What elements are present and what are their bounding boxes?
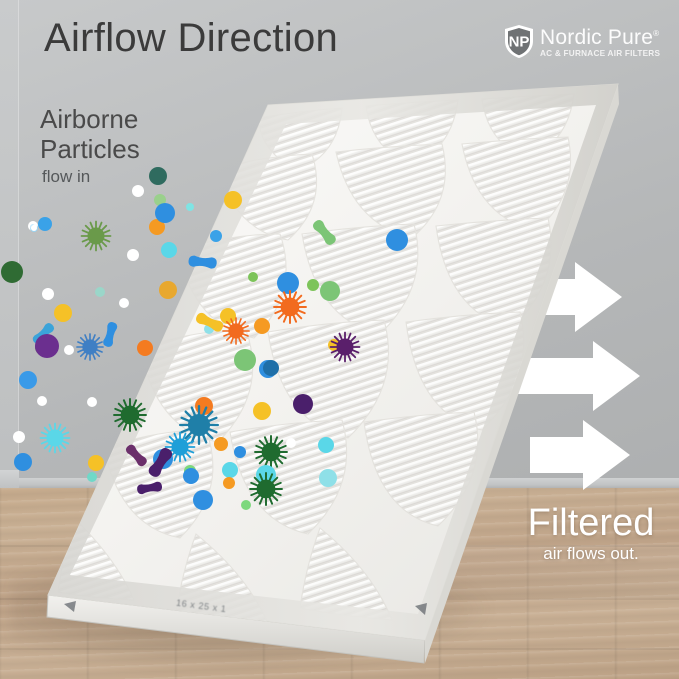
particle-dot xyxy=(234,446,246,458)
particle-dot xyxy=(223,477,235,489)
particle-dot xyxy=(293,394,313,414)
particle-dot xyxy=(214,437,228,451)
particle-dot xyxy=(254,318,270,334)
shield-icon: NP xyxy=(503,24,535,59)
particle-spiky xyxy=(223,318,249,344)
particle-dot xyxy=(193,490,213,510)
page-title: Airflow Direction xyxy=(44,16,338,61)
particle-spiky xyxy=(114,399,146,431)
particle-dot xyxy=(286,438,296,448)
particle-dot xyxy=(253,402,271,420)
particle-dot xyxy=(127,249,139,261)
particle-dot xyxy=(277,272,299,294)
inlet-label-line1: Airborne xyxy=(40,104,140,134)
particle-dot xyxy=(263,360,279,376)
particles-unfiltered-side xyxy=(1,167,196,482)
particle-rod xyxy=(311,218,338,247)
particle-dot xyxy=(87,397,97,407)
particle-dot xyxy=(137,340,153,356)
inlet-label-line3: flow in xyxy=(42,167,140,187)
particle-dot xyxy=(241,500,251,510)
outlet-label-group: Filtered air flows out. xyxy=(516,503,666,564)
brand-name: Nordic Pure® xyxy=(540,22,665,49)
particle-dot xyxy=(210,230,222,242)
particle-spiky xyxy=(77,334,103,360)
particle-spiky xyxy=(180,406,218,444)
inlet-label-group: Airborne Particles flow in xyxy=(40,104,140,187)
outlet-label-line1: Filtered xyxy=(516,503,666,543)
particle-dot xyxy=(37,396,47,406)
particle-dot xyxy=(248,272,258,282)
outlet-label-line2: air flows out. xyxy=(516,544,666,564)
particle-rod xyxy=(188,255,217,269)
particle-dot xyxy=(95,287,105,297)
particle-dot xyxy=(42,288,54,300)
particle-dot xyxy=(19,371,37,389)
particle-rod xyxy=(136,481,162,495)
particle-dot xyxy=(14,453,32,471)
particle-dot xyxy=(88,455,104,471)
particle-dot xyxy=(54,304,72,322)
airborne-particles-group xyxy=(0,0,679,679)
particle-dot xyxy=(186,203,194,211)
particle-dot xyxy=(1,261,23,283)
inlet-label-line2: Particles xyxy=(40,134,140,164)
particle-dot xyxy=(307,279,319,291)
brand-tagline: AC & FURNACE AIR FILTERS xyxy=(540,49,665,58)
particle-dot xyxy=(31,225,37,231)
particle-spiky xyxy=(41,424,70,453)
particle-dot xyxy=(35,334,59,358)
particle-spiky xyxy=(331,333,360,362)
particle-dot xyxy=(13,431,25,443)
particles-layer xyxy=(0,0,679,679)
svg-text:NP: NP xyxy=(509,34,530,51)
brand-logo-text: Nordic Pure® AC & FURNACE AIR FILTERS xyxy=(540,22,665,58)
particle-dot xyxy=(319,469,337,487)
particles-on-filter xyxy=(136,191,408,510)
particle-dot xyxy=(183,468,199,484)
particle-dot xyxy=(234,349,256,371)
particle-dot xyxy=(222,462,238,478)
particle-spiky xyxy=(274,291,306,323)
particle-dot xyxy=(38,217,52,231)
product-illustration: 16 x 25 x 1 Airflow Direction Airborne P… xyxy=(0,0,679,679)
particle-dot xyxy=(224,191,242,209)
particle-dot xyxy=(386,229,408,251)
particle-dot xyxy=(87,472,97,482)
particle-dot xyxy=(159,281,177,299)
particle-dot xyxy=(149,167,167,185)
particle-dot xyxy=(161,242,177,258)
particle-dot xyxy=(64,345,74,355)
registered-mark: ® xyxy=(653,29,659,38)
particle-dot xyxy=(119,298,129,308)
particle-spiky xyxy=(82,222,111,251)
particle-dot xyxy=(220,308,236,324)
particle-rod xyxy=(124,443,148,468)
brand-name-text: Nordic Pure xyxy=(540,26,653,49)
particle-spiky xyxy=(255,436,287,468)
particle-dot xyxy=(155,203,175,223)
brand-logo: NP Nordic Pure® AC & FURNACE AIR FILTERS xyxy=(503,24,663,60)
particle-rod xyxy=(102,321,118,348)
particle-dot xyxy=(320,281,340,301)
particle-dot xyxy=(318,437,334,453)
particle-spiky xyxy=(250,473,282,505)
